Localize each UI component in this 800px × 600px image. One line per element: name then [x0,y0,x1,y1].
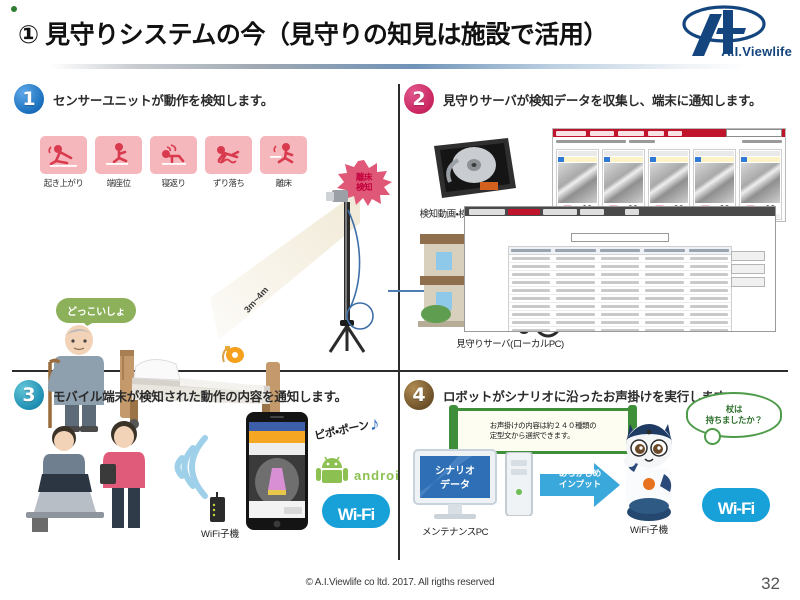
music-note-icon: ♪ [370,414,380,436]
camera-title [650,151,689,156]
maintenance-pc-monitor-icon: シナリオ データ [412,448,498,522]
hard-disk-drive-icon [424,132,520,204]
toolbar-tab[interactable] [590,131,614,136]
motion-item: 端座位 [95,136,142,189]
step-1-description: センサーユニットが動作を検知します。 [53,90,273,109]
step-3-description: モバイル端末が検知された動作の内容を通知します。 [53,386,347,405]
subbar-text [742,140,782,143]
person-sitting-edge-icon [95,136,142,174]
tab-realtime[interactable] [469,209,505,215]
person-rolling-over-icon [150,136,197,174]
motion-label: ずり落ち [205,177,252,189]
input-arrow-label: あらかじめインプット [550,468,610,489]
communication-robot-icon [616,418,682,522]
tab-detection-list[interactable] [508,209,540,215]
motion-item: ずり落ち [205,136,252,189]
quadrant-grid: 1 センサーユニットが動作を検知します。 起き上がり [10,80,790,565]
wifi-router-icon [210,492,225,522]
alert-sound-label: ピポ・ポーン [313,416,370,443]
toolbar-tab[interactable] [618,131,644,136]
table-row[interactable] [509,319,731,327]
toolbar-tab[interactable] [648,131,664,136]
server-caption: 見守りサーバ(ローカルPC) [410,336,610,350]
tab-sensor-list[interactable] [543,209,577,215]
robot-speech-text: 杖は持ちましたか？ [706,404,763,426]
camera-thumbnail[interactable] [650,163,689,203]
camera-thumbnail[interactable] [741,163,780,203]
camera-status-row [604,157,643,162]
step-number-badge: 4 [404,380,434,410]
camera-thumbnail[interactable] [604,163,643,203]
export-button[interactable] [731,277,765,287]
motion-label: 寝返り [150,177,197,189]
camera-status-row [650,157,689,162]
table-header-row [509,247,731,255]
svg-text:シナリオ: シナリオ [435,465,475,477]
section-3-mobile-notification: 3 モバイル端末が検知された動作の内容を通知します。 [14,376,396,560]
table-row[interactable] [509,295,731,303]
android-smartphone-icon [246,412,308,530]
section-2-monitoring-server: 2 見守りサーバが検知データを収集し、端末に通知します。 検知動画・検知静止画デ… [404,80,786,368]
step-1-header: 1 センサーユニットが動作を検知します。 [14,80,396,114]
wifi-logo-label: Wi-Fi [718,500,754,522]
maintenance-pc-caption: メンテナンスPC [404,524,506,538]
status-square-icon [650,157,656,162]
router-caption: WiFi子機 [192,526,248,540]
page-title: ① 見守りシステムの今（見守りの知見は施設で活用） [18,14,658,56]
sensor-tripod-icon [314,188,374,353]
table-row[interactable] [509,311,731,319]
camera-thumbnail[interactable] [695,163,734,203]
list-screen-title [479,222,775,228]
col-header [555,249,595,252]
camera-status-row [741,157,780,162]
camera-title [741,151,780,156]
status-square-icon [558,157,564,162]
wifi-logo-icon: Wi-Fi [322,494,390,528]
table-row[interactable] [509,327,731,332]
tab-version[interactable] [580,209,604,215]
camera-status-row [695,157,734,162]
side-action-buttons[interactable] [731,251,765,287]
android-logo-icon: android [316,454,400,486]
screen-subbar [553,137,785,146]
screen-toolbar[interactable] [553,129,785,137]
bullet-dot-icon [11,6,17,12]
camera-title [604,151,643,156]
motion-item: 寝返り [150,136,197,189]
camera-status-row [558,157,597,162]
subbar-text [629,140,655,143]
motion-label: 起き上がり [40,177,87,189]
toolbar-tab[interactable] [668,131,682,136]
robot-speech-bubble: 杖は持ちましたか？ [686,392,782,438]
step-3-header: 3 モバイル端末が検知された動作の内容を通知します。 [14,376,396,410]
pc-tower-icon [504,452,534,516]
camera-title [695,151,734,156]
camera-thumbnail[interactable] [558,163,597,203]
table-row[interactable] [509,279,731,287]
status-square-icon [741,157,747,162]
tab-settings[interactable] [625,209,639,215]
motion-label: 端座位 [95,177,142,189]
vertical-divider [398,84,400,560]
wifi-waves-icon [157,430,211,504]
motion-item: 離床 [260,136,307,189]
step-number-badge: 3 [14,380,44,410]
wifi-logo-label: Wi-Fi [338,506,374,528]
step-2-header: 2 見守りサーバが検知データを収集し、端末に通知します。 [404,80,786,114]
scenario-note-text: お声掛けの内容は約２４０種類の定型文から選択できます。 [490,421,597,441]
detection-list-screen[interactable] [464,206,776,332]
location-select[interactable] [726,129,782,137]
table-row[interactable] [509,287,731,295]
header-divider [50,64,750,69]
copyright-footer: © A.I.Viewlife co ltd. 2017. All rigths … [0,577,800,588]
col-header [689,249,729,252]
person-sliding-down-icon [205,136,252,174]
status-square-icon [604,157,610,162]
section-4-robot-voice: 4 ロボットがシナリオに沿ったお声掛けを実行します。 お声掛けの内容は約２４０種… [404,376,786,560]
brand-name: A.I.Viewlife [721,44,792,59]
col-header [600,249,640,252]
person-leaving-bed-icon [260,136,307,174]
table-row[interactable] [509,263,731,271]
svg-text:データ: データ [440,478,470,491]
step-number-badge: 1 [14,84,44,114]
col-header [511,249,551,252]
person-getting-up-icon [40,136,87,174]
page-number: 32 [761,574,780,594]
staff-at-laptop-icon [20,416,170,536]
table-row[interactable] [509,271,731,279]
filter-select[interactable] [571,233,669,242]
section-1-sensor-detection: 1 センサーユニットが動作を検知します。 起き上がり [14,80,396,368]
table-row[interactable] [509,255,731,263]
motion-label: 離床 [260,177,307,189]
step-2-description: 見守りサーバが検知データを収集し、端末に通知します。 [443,90,761,109]
status-square-icon [695,157,701,162]
toolbar-tab[interactable] [556,131,586,136]
detection-table [508,246,732,332]
slide-canvas: ① 見守りシステムの今（見守りの知見は施設で活用） A.I.Viewlife 1… [0,0,800,600]
step-number-badge: 2 [404,84,434,114]
motion-item: 起き上がり [40,136,87,189]
screen-tabs[interactable] [465,207,775,216]
svg-text:android: android [354,468,400,483]
motion-type-list: 起き上がり 端座位 [40,136,307,189]
robot-caption: WiFi子機 [604,522,694,536]
table-row[interactable] [509,303,731,311]
wifi-logo-icon: Wi-Fi [702,488,770,522]
col-header [644,249,684,252]
clear-button[interactable] [731,264,765,274]
search-button[interactable] [731,251,765,261]
subbar-text [556,140,626,143]
camera-title [558,151,597,156]
